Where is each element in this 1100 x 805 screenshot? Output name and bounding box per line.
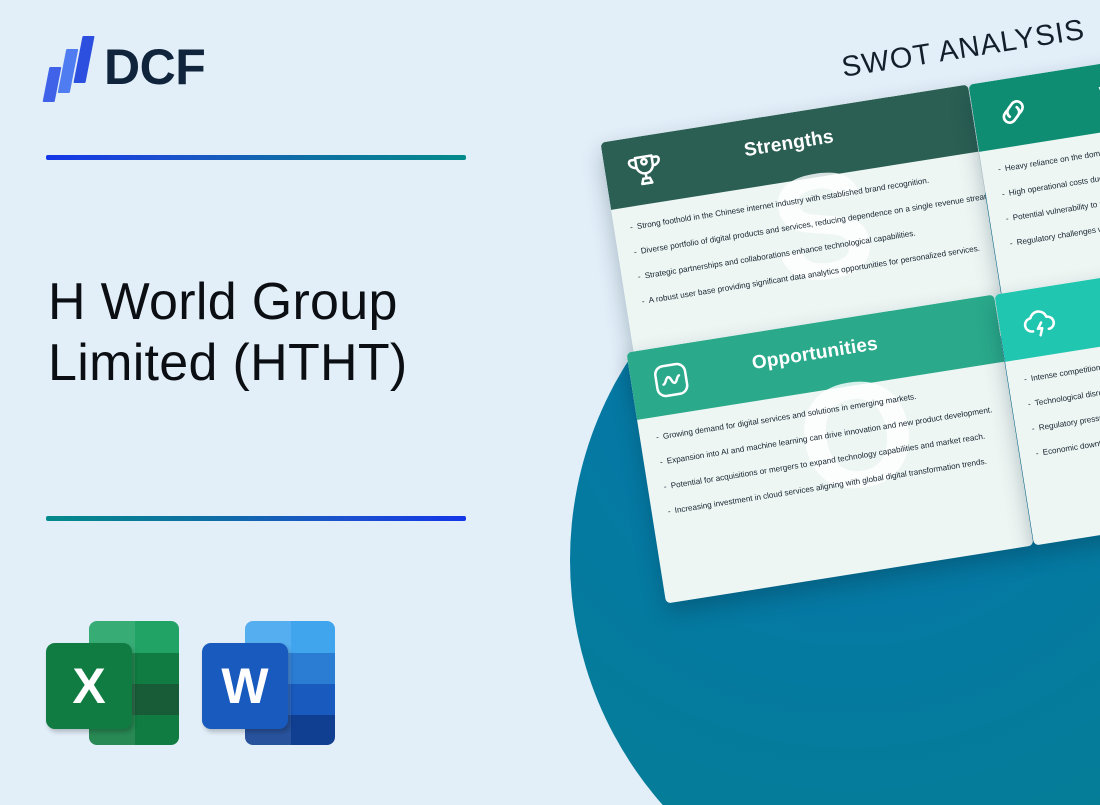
divider-bottom	[46, 516, 466, 521]
word-file-icon[interactable]: W	[202, 618, 336, 748]
swot-graphic: SWOT ANALYSIS Strengths	[470, 0, 1100, 805]
brand-name: DCF	[104, 42, 205, 96]
page-title: H World Group Limited (HTHT)	[48, 272, 498, 395]
left-panel: DCF H World Group Limited (HTHT) X	[0, 0, 540, 805]
divider-top	[46, 155, 466, 160]
document-icons: X W	[46, 618, 336, 748]
word-icon-letter: W	[202, 643, 288, 729]
brand-logo: DCF	[46, 36, 205, 102]
dcf-bars-logo-icon	[46, 36, 90, 102]
excel-icon-letter: X	[46, 643, 132, 729]
excel-file-icon[interactable]: X	[46, 618, 180, 748]
page-root: DCF H World Group Limited (HTHT) X	[0, 0, 1100, 805]
